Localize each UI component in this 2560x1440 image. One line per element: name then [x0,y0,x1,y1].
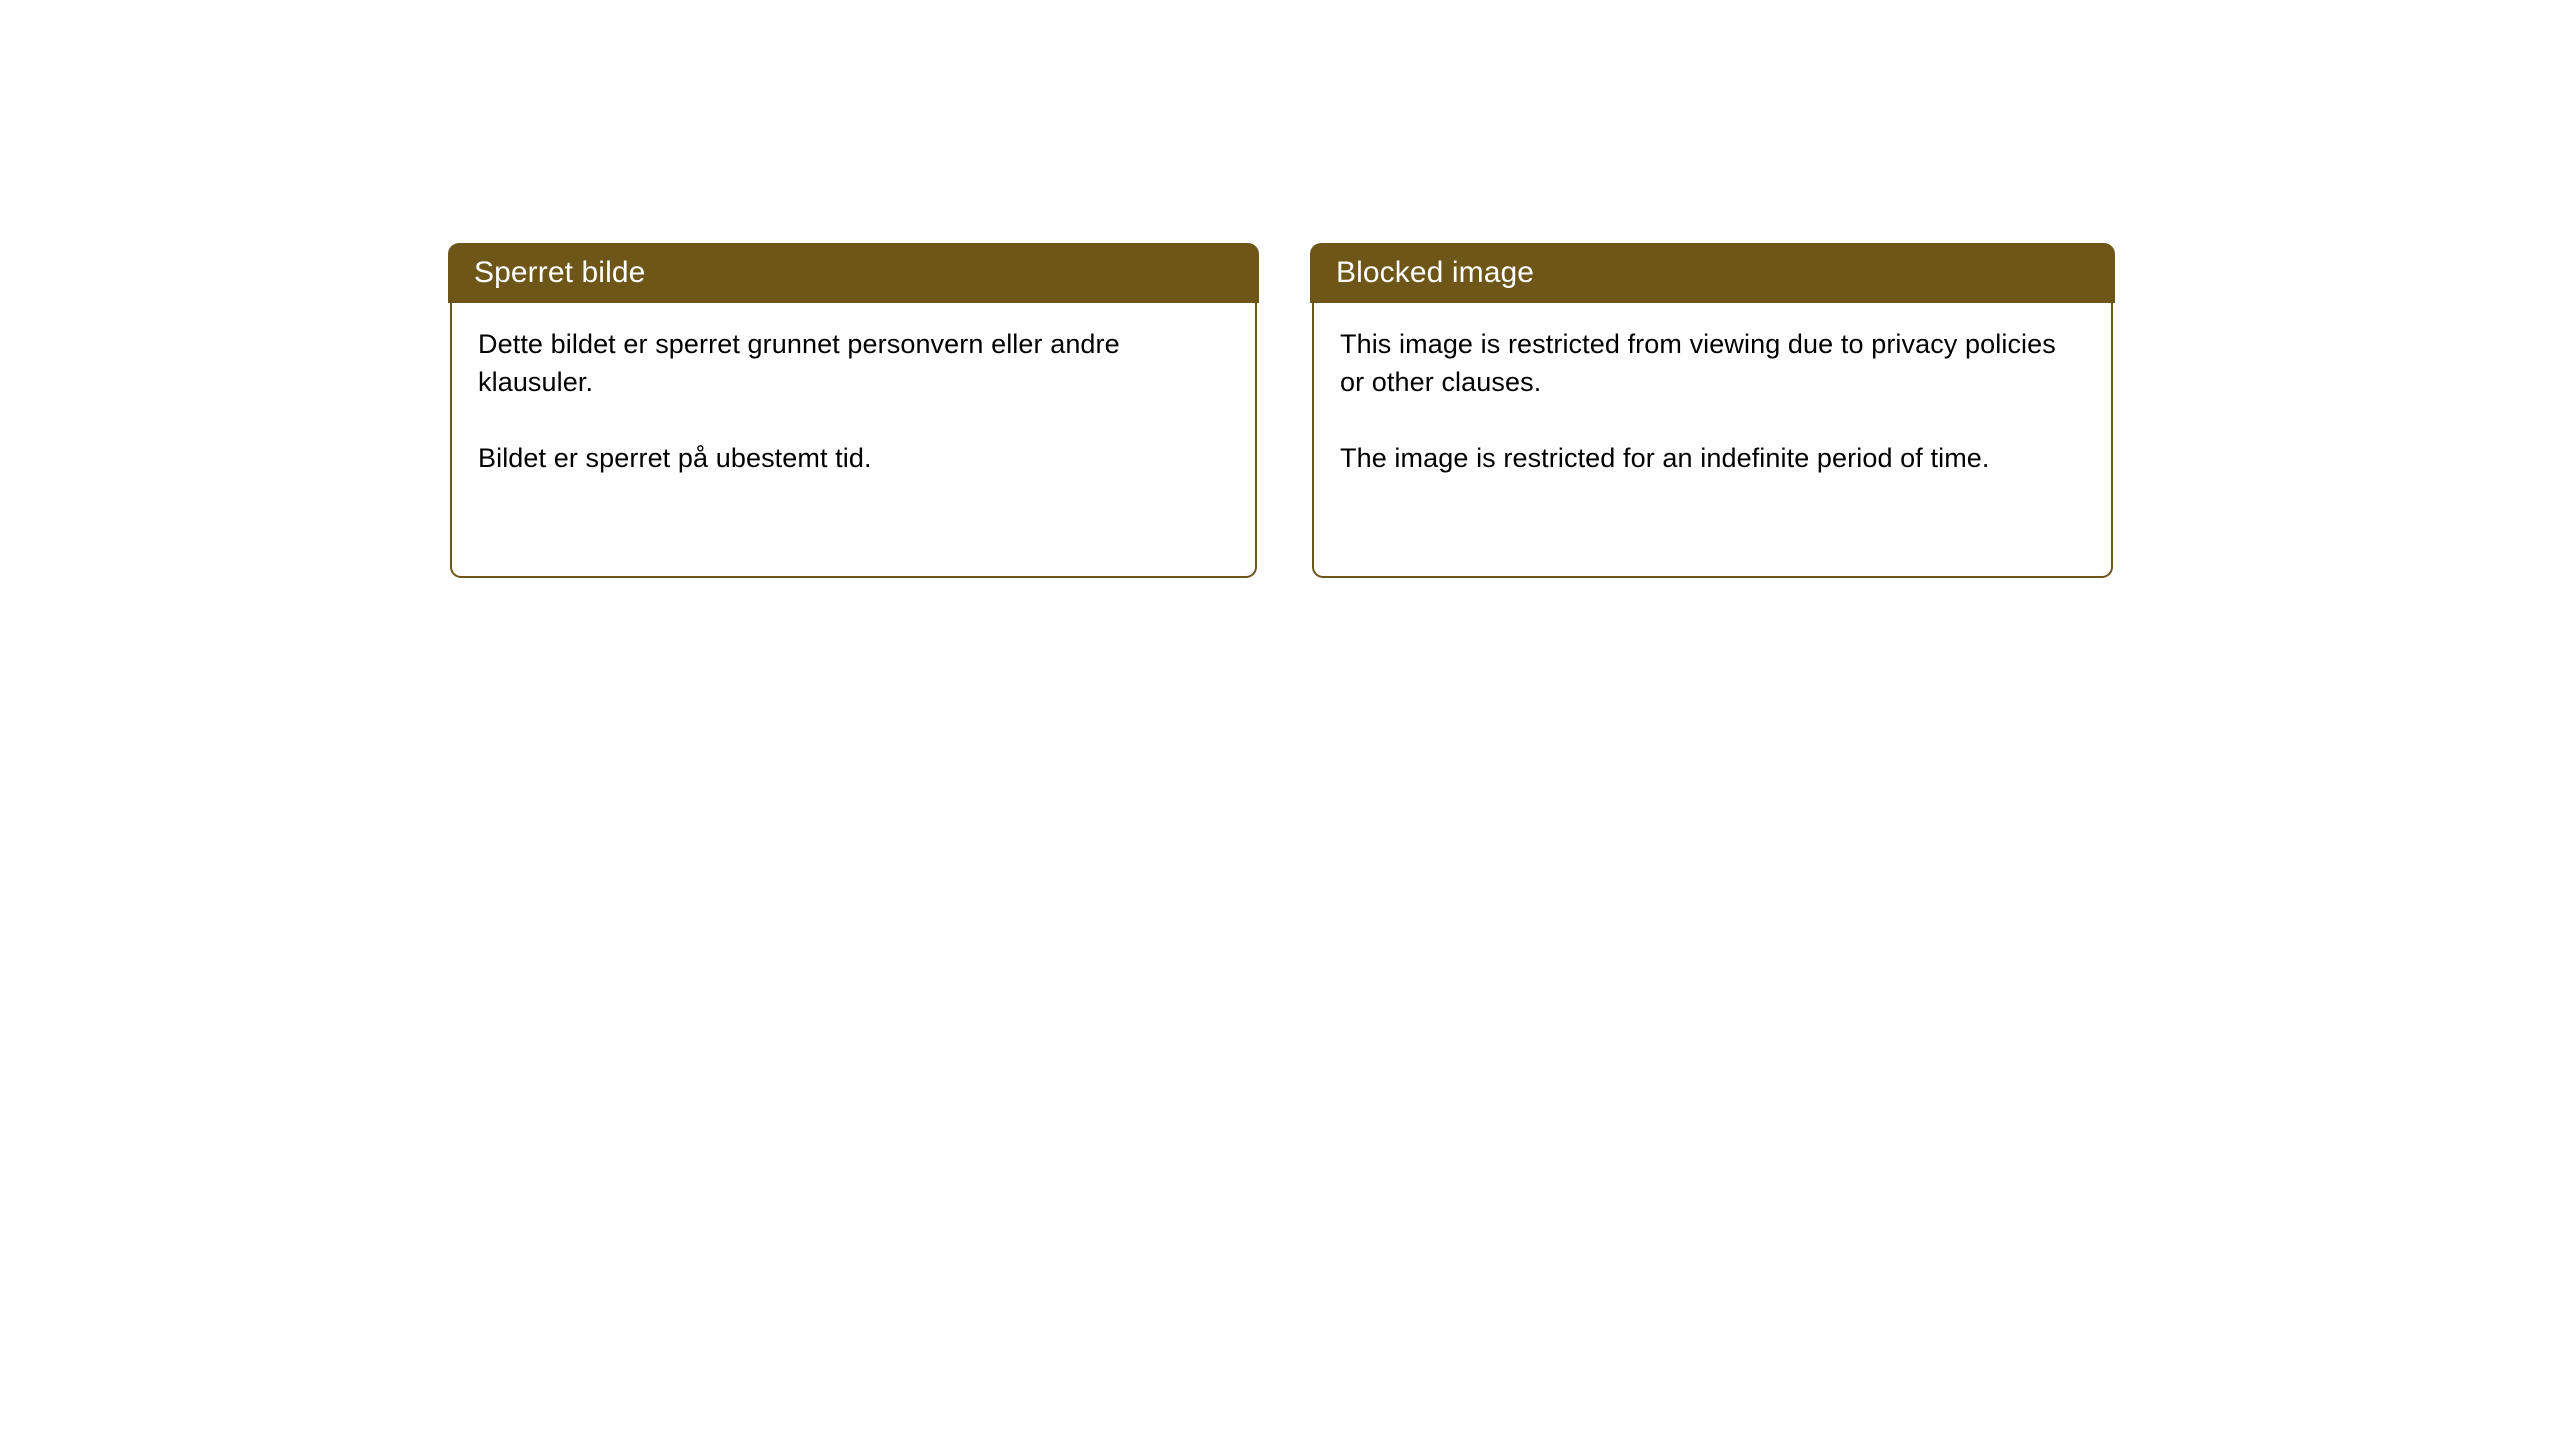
blocked-image-card-norwegian: Sperret bilde Dette bildet er sperret gr… [450,243,1257,578]
blocked-image-card-english: Blocked image This image is restricted f… [1312,243,2113,578]
blocked-image-notice-group: Sperret bilde Dette bildet er sperret gr… [450,243,2113,578]
card-paragraph-norwegian-2: Bildet er sperret på ubestemt tid. [478,439,1229,477]
card-paragraph-norwegian-1: Dette bildet er sperret grunnet personve… [478,325,1229,401]
card-paragraph-english-2: The image is restricted for an indefinit… [1340,439,2085,477]
card-paragraph-english-1: This image is restricted from viewing du… [1340,325,2085,401]
card-title-norwegian: Sperret bilde [474,258,645,288]
card-title-english: Blocked image [1336,258,1534,288]
page-root: Sperret bilde Dette bildet er sperret gr… [0,0,2560,1440]
card-body-norwegian: Dette bildet er sperret grunnet personve… [450,303,1257,578]
card-header-english: Blocked image [1310,243,2115,303]
card-header-norwegian: Sperret bilde [448,243,1259,303]
card-body-english: This image is restricted from viewing du… [1312,303,2113,578]
